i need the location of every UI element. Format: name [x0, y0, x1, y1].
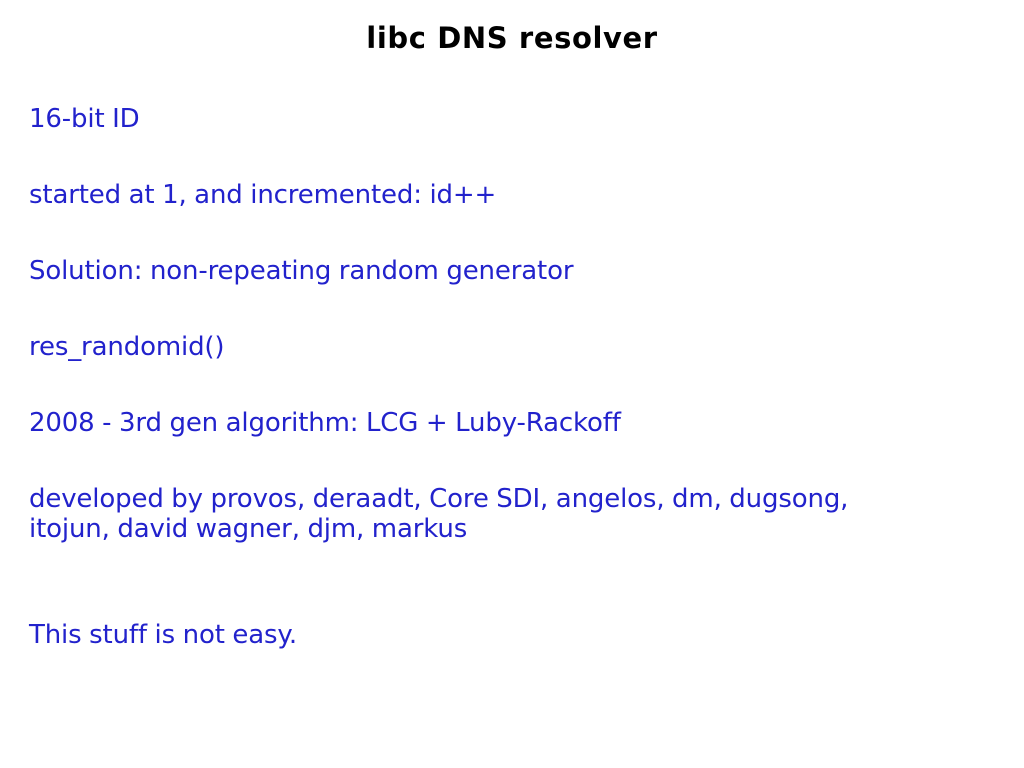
- body-line-3: Solution: non-repeating random generator: [29, 256, 969, 287]
- page-title: libc DNS resolver: [0, 21, 1024, 55]
- body-line-2: started at 1, and incremented: id++: [29, 180, 969, 211]
- body-line-4: res_randomid(): [29, 332, 969, 363]
- body-line-6-credits: developed by provos, deraadt, Core SDI, …: [29, 484, 889, 544]
- slide-body: 16-bit ID started at 1, and incremented:…: [29, 104, 969, 651]
- slide: libc DNS resolver 16-bit ID started at 1…: [0, 0, 1024, 768]
- body-spacer: [29, 544, 969, 620]
- body-line-1: 16-bit ID: [29, 104, 969, 135]
- body-line-7-closing: This stuff is not easy.: [29, 620, 969, 651]
- body-line-5: 2008 - 3rd gen algorithm: LCG + Luby-Rac…: [29, 408, 969, 439]
